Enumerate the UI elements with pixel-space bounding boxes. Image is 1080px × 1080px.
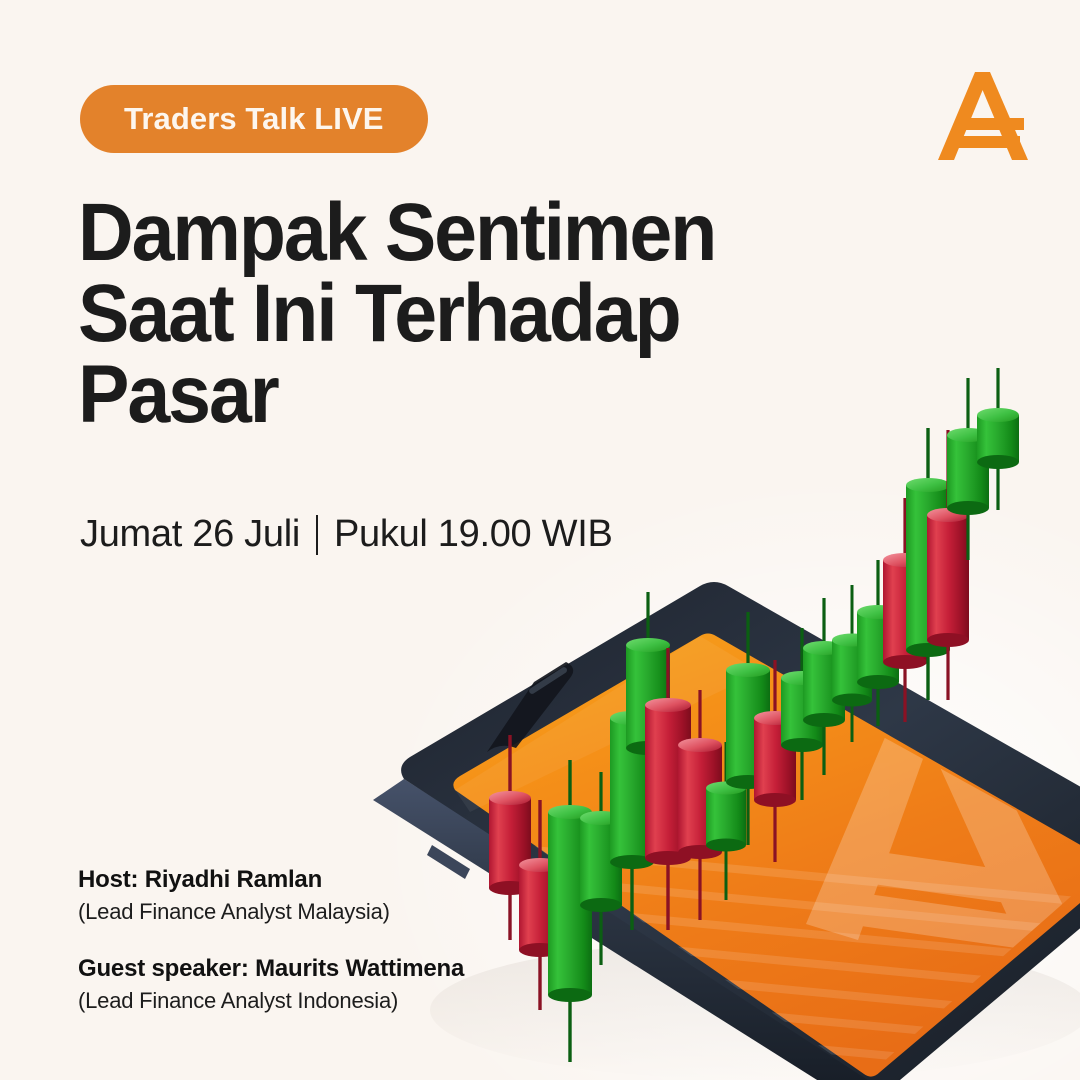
candle-15 [857,560,899,726]
candle-20 [977,368,1019,510]
phone-earpiece [528,666,568,695]
phone-notch [487,662,573,752]
promo-poster: Traders Talk LIVE Dampak Sentimen Saat I… [0,0,1080,1080]
screen-stripes [468,840,1080,1080]
candle-8 [678,690,722,920]
candle-6 [626,592,670,810]
candle-10 [726,612,770,845]
candle-19 [947,378,989,560]
candlestick-series [489,368,1019,1062]
phone-body [401,582,1080,1080]
candle-3 [548,760,592,1062]
screen-logo-watermark [806,678,1075,950]
headline-line-3: Pasar [78,354,792,435]
host-name: Host: Riyadhi Ramlan [78,866,464,894]
candle-17 [906,428,950,700]
schedule-date: Jumat 26 Juli [80,513,300,556]
schedule-line: Jumat 26 Juli Pukul 19.00 WIB [80,513,613,556]
candle-14 [832,585,872,742]
a-currency-logo [928,62,1036,170]
phone-ground-shadow [430,940,1080,1080]
phone-screen [453,634,1080,1077]
candle-18 [927,430,969,700]
host-role: (Lead Finance Analyst Malaysia) [78,899,464,925]
headline-line-2: Saat Ini Terhadap [78,273,792,354]
schedule-separator [316,515,318,555]
candle-13 [803,598,845,775]
candle-9 [706,742,746,900]
guest-credit: Guest speaker: Maurits Wattimena (Lead F… [78,955,464,1014]
candle-4 [580,772,622,965]
candle-11 [754,660,796,862]
live-badge[interactable]: Traders Talk LIVE [80,85,428,153]
guest-role: (Lead Finance Analyst Indonesia) [78,988,464,1014]
guest-name: Guest speaker: Maurits Wattimena [78,955,464,983]
host-credit: Host: Riyadhi Ramlan (Lead Finance Analy… [78,866,464,925]
live-badge-label: Traders Talk LIVE [124,101,384,137]
candle-7 [645,648,691,930]
speaker-credits: Host: Riyadhi Ramlan (Lead Finance Analy… [78,866,464,1014]
candle-12 [781,628,823,800]
schedule-time: Pukul 19.00 WIB [334,513,613,556]
page-title: Dampak Sentimen Saat Ini Terhadap Pasar [78,192,838,436]
candle-1 [489,735,531,940]
headline-line-1: Dampak Sentimen [78,192,792,273]
screen-glare [455,636,760,812]
candle-5 [610,650,654,930]
candle-16 [883,498,927,722]
screen-contents [468,678,1080,1080]
smartphone [373,582,1080,1080]
candle-2 [519,800,561,1010]
